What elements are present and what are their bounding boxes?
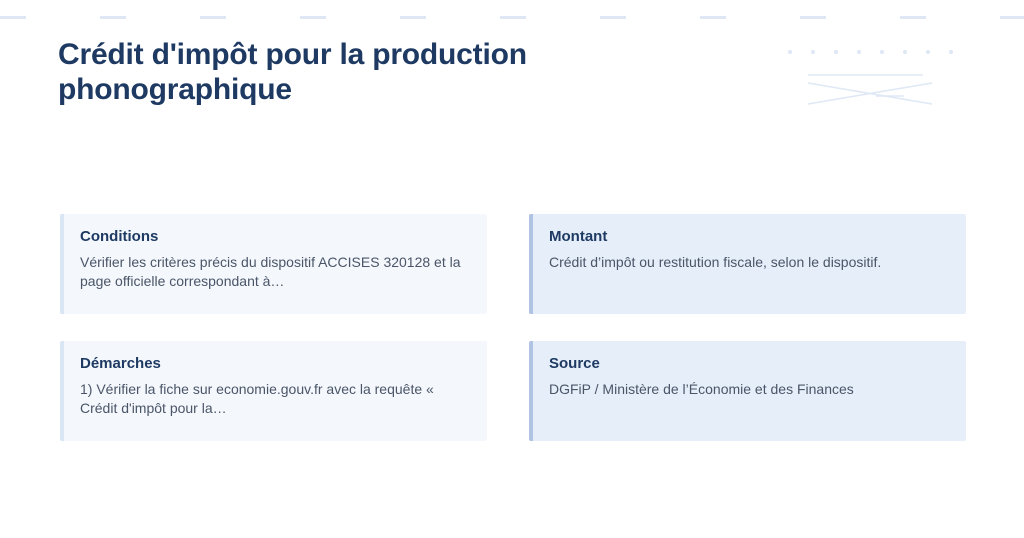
card-body: DGFiP / Ministère de l’Économie et des F… bbox=[549, 380, 941, 399]
card-body: Vérifier les critères précis du disposit… bbox=[80, 253, 471, 290]
card-title: Conditions bbox=[80, 228, 471, 246]
card-montant: Montant Crédit d’impôt ou restitution fi… bbox=[529, 214, 966, 314]
card-title: Démarches bbox=[80, 355, 471, 373]
card-body: 1) Vérifier la fiche sur economie.gouv.f… bbox=[80, 380, 471, 417]
card-body: Crédit d’impôt ou restitution fiscale, s… bbox=[549, 253, 941, 272]
page-title: Crédit d'impôt pour la production phonog… bbox=[58, 38, 698, 108]
card-source: Source DGFiP / Ministère de l’Économie e… bbox=[529, 341, 966, 441]
dots-and-crossing-lines-icon bbox=[780, 44, 980, 124]
card-title: Source bbox=[549, 355, 950, 373]
slide-canvas: Crédit d'impôt pour la production phonog… bbox=[0, 0, 1024, 538]
slide-header: Crédit d'impôt pour la production phonog… bbox=[58, 38, 758, 108]
card-title: Montant bbox=[549, 228, 950, 246]
info-card-grid: Conditions Vérifier les critères précis … bbox=[60, 214, 966, 441]
decorative-motif bbox=[780, 44, 980, 124]
dashed-rule-icon bbox=[0, 16, 1024, 19]
card-conditions: Conditions Vérifier les critères précis … bbox=[60, 214, 487, 314]
card-demarches: Démarches 1) Vérifier la fiche sur econo… bbox=[60, 341, 487, 441]
